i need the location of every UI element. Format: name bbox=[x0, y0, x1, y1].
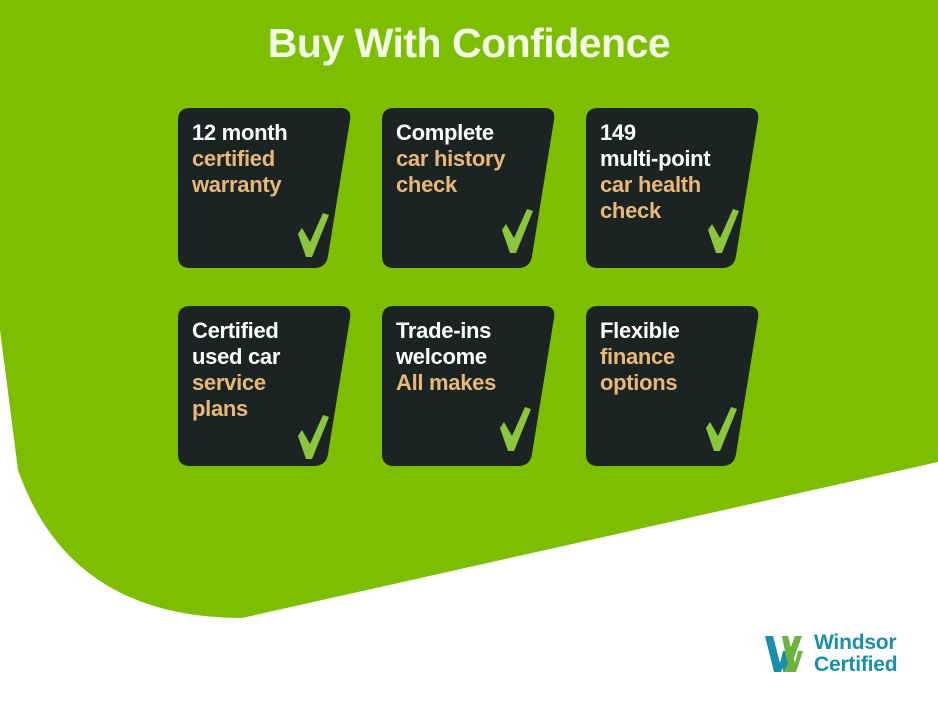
benefits-grid: 12 month certified warranty Complete car… bbox=[178, 108, 764, 466]
card-subtext-line: service bbox=[192, 370, 338, 396]
check-icon bbox=[704, 406, 738, 452]
card-subtext-line: car history bbox=[396, 146, 542, 172]
card-headline-line: 12 month bbox=[192, 120, 338, 146]
card-subtext-line: car health bbox=[600, 172, 746, 198]
logo-line-windsor: Windsor bbox=[814, 632, 897, 654]
card-headline-line: used car bbox=[192, 344, 338, 370]
card-text: Complete car history check bbox=[396, 120, 542, 198]
card-headline-line: 149 bbox=[600, 120, 746, 146]
check-icon bbox=[296, 414, 330, 460]
card-subtext-line: check bbox=[396, 172, 542, 198]
card-headline-line: Complete bbox=[396, 120, 542, 146]
card-text: Certified used car service plans bbox=[192, 318, 338, 422]
card-headline-line: multi-point bbox=[600, 146, 746, 172]
benefit-card-certified-warranty[interactable]: 12 month certified warranty bbox=[178, 108, 352, 268]
card-text: Flexible finance options bbox=[600, 318, 746, 396]
check-icon bbox=[500, 208, 534, 254]
card-headline-line: Flexible bbox=[600, 318, 746, 344]
card-headline-line: Trade-ins bbox=[396, 318, 542, 344]
page-title: Buy With Confidence bbox=[0, 20, 938, 67]
benefit-card-service-plans[interactable]: Certified used car service plans bbox=[178, 306, 352, 466]
slide-canvas: Buy With Confidence 12 month certified w… bbox=[0, 0, 938, 704]
benefit-card-multi-point-health-check[interactable]: 149 multi-point car health check bbox=[586, 108, 760, 268]
windsor-certified-logo[interactable]: Windsor Certified bbox=[762, 626, 922, 682]
benefit-card-flexible-finance[interactable]: Flexible finance options bbox=[586, 306, 760, 466]
check-icon bbox=[296, 212, 330, 258]
card-text: 12 month certified warranty bbox=[192, 120, 338, 198]
windsor-w-icon bbox=[762, 633, 806, 675]
card-subtext-line: certified bbox=[192, 146, 338, 172]
card-text: Trade-ins welcome All makes bbox=[396, 318, 542, 396]
card-subtext-line: All makes bbox=[396, 370, 542, 396]
card-headline-line: welcome bbox=[396, 344, 542, 370]
card-headline-line: Certified bbox=[192, 318, 338, 344]
card-subtext-line: finance bbox=[600, 344, 746, 370]
card-subtext-line: options bbox=[600, 370, 746, 396]
benefit-card-car-history-check[interactable]: Complete car history check bbox=[382, 108, 556, 268]
check-icon bbox=[706, 208, 740, 254]
card-subtext-line: warranty bbox=[192, 172, 338, 198]
logo-line-certified: Certified bbox=[814, 654, 897, 676]
logo-wordmark: Windsor Certified bbox=[814, 632, 897, 676]
check-icon bbox=[498, 406, 532, 452]
benefit-card-trade-ins[interactable]: Trade-ins welcome All makes bbox=[382, 306, 556, 466]
